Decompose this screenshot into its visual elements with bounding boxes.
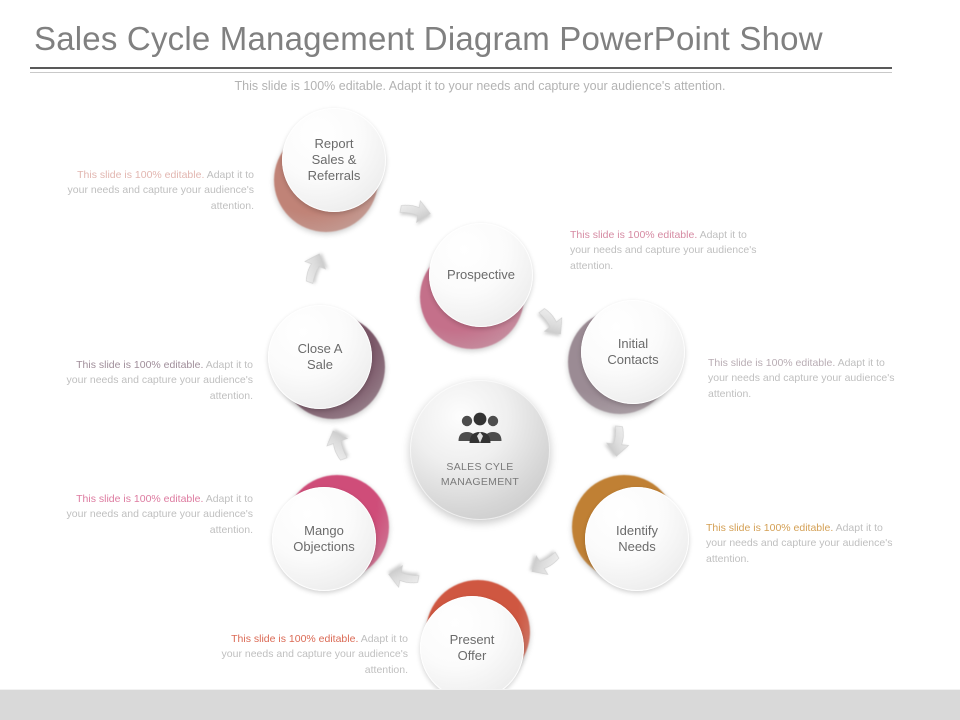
stage-label: Prospective xyxy=(441,267,521,283)
stage-node-mango-objections[interactable]: Mango Objections xyxy=(272,475,388,591)
stage-node-close-a-sale[interactable]: Close A Sale xyxy=(268,305,384,421)
caption-present-offer: This slide is 100% editable. Adapt it to… xyxy=(218,632,408,678)
stage-node-present-offer[interactable]: Present Offer xyxy=(420,580,536,696)
stage-label: Present Offer xyxy=(444,632,501,664)
caption-lead: This slide is 100% editable. xyxy=(76,359,203,371)
caption-close-a-sale: This slide is 100% editable. Adapt it to… xyxy=(55,358,253,404)
stage-front-circle[interactable]: Present Offer xyxy=(420,596,524,700)
page-title: Sales Cycle Management Diagram PowerPoin… xyxy=(34,20,934,58)
stage-node-report-sales-referrals[interactable]: Report Sales & Referrals xyxy=(272,108,388,224)
caption-lead: This slide is 100% editable. xyxy=(706,522,833,534)
curved-arrow-icon xyxy=(317,420,366,469)
page-subtitle: This slide is 100% editable. Adapt it to… xyxy=(30,79,930,93)
stage-label: Initial Contacts xyxy=(601,336,664,368)
stage-front-circle[interactable]: Initial Contacts xyxy=(581,300,685,404)
footer-bar xyxy=(0,689,960,720)
stage-node-initial-contacts[interactable]: Initial Contacts xyxy=(568,300,684,416)
caption-lead: This slide is 100% editable. xyxy=(76,493,203,505)
caption-mango-objections: This slide is 100% editable. Adapt it to… xyxy=(55,492,253,538)
stage-front-circle[interactable]: Prospective xyxy=(429,223,533,327)
caption-lead: This slide is 100% editable. xyxy=(708,357,835,369)
stage-node-prospective[interactable]: Prospective xyxy=(420,223,536,339)
center-hub[interactable]: SALES CYLE MANAGEMENT xyxy=(410,380,550,520)
curved-arrow-icon xyxy=(293,245,342,294)
stage-label: Mango Objections xyxy=(287,523,360,555)
curved-arrow-icon xyxy=(594,420,636,462)
stage-front-circle[interactable]: Close A Sale xyxy=(268,305,372,409)
caption-prospective: This slide is 100% editable. Adapt it to… xyxy=(570,228,770,274)
stage-label: Identify Needs xyxy=(610,523,664,555)
stage-front-circle[interactable]: Report Sales & Referrals xyxy=(282,108,386,212)
stage-node-identify-needs[interactable]: Identify Needs xyxy=(572,475,688,591)
title-divider xyxy=(30,67,892,73)
caption-identify-needs: This slide is 100% editable. Adapt it to… xyxy=(706,521,906,567)
stage-front-circle[interactable]: Identify Needs xyxy=(585,487,689,591)
caption-lead: This slide is 100% editable. xyxy=(570,229,697,241)
caption-report-sales-referrals: This slide is 100% editable. Adapt it to… xyxy=(62,168,254,214)
stage-front-circle[interactable]: Mango Objections xyxy=(272,487,376,591)
stage-label: Report Sales & Referrals xyxy=(302,136,367,184)
caption-lead: This slide is 100% editable. xyxy=(231,633,358,645)
people-group-icon xyxy=(456,411,504,450)
caption-lead: This slide is 100% editable. xyxy=(77,169,204,181)
caption-initial-contacts: This slide is 100% editable. Adapt it to… xyxy=(708,356,908,402)
stage-label: Close A Sale xyxy=(292,341,349,373)
center-hub-label: SALES CYLE MANAGEMENT xyxy=(441,460,519,488)
